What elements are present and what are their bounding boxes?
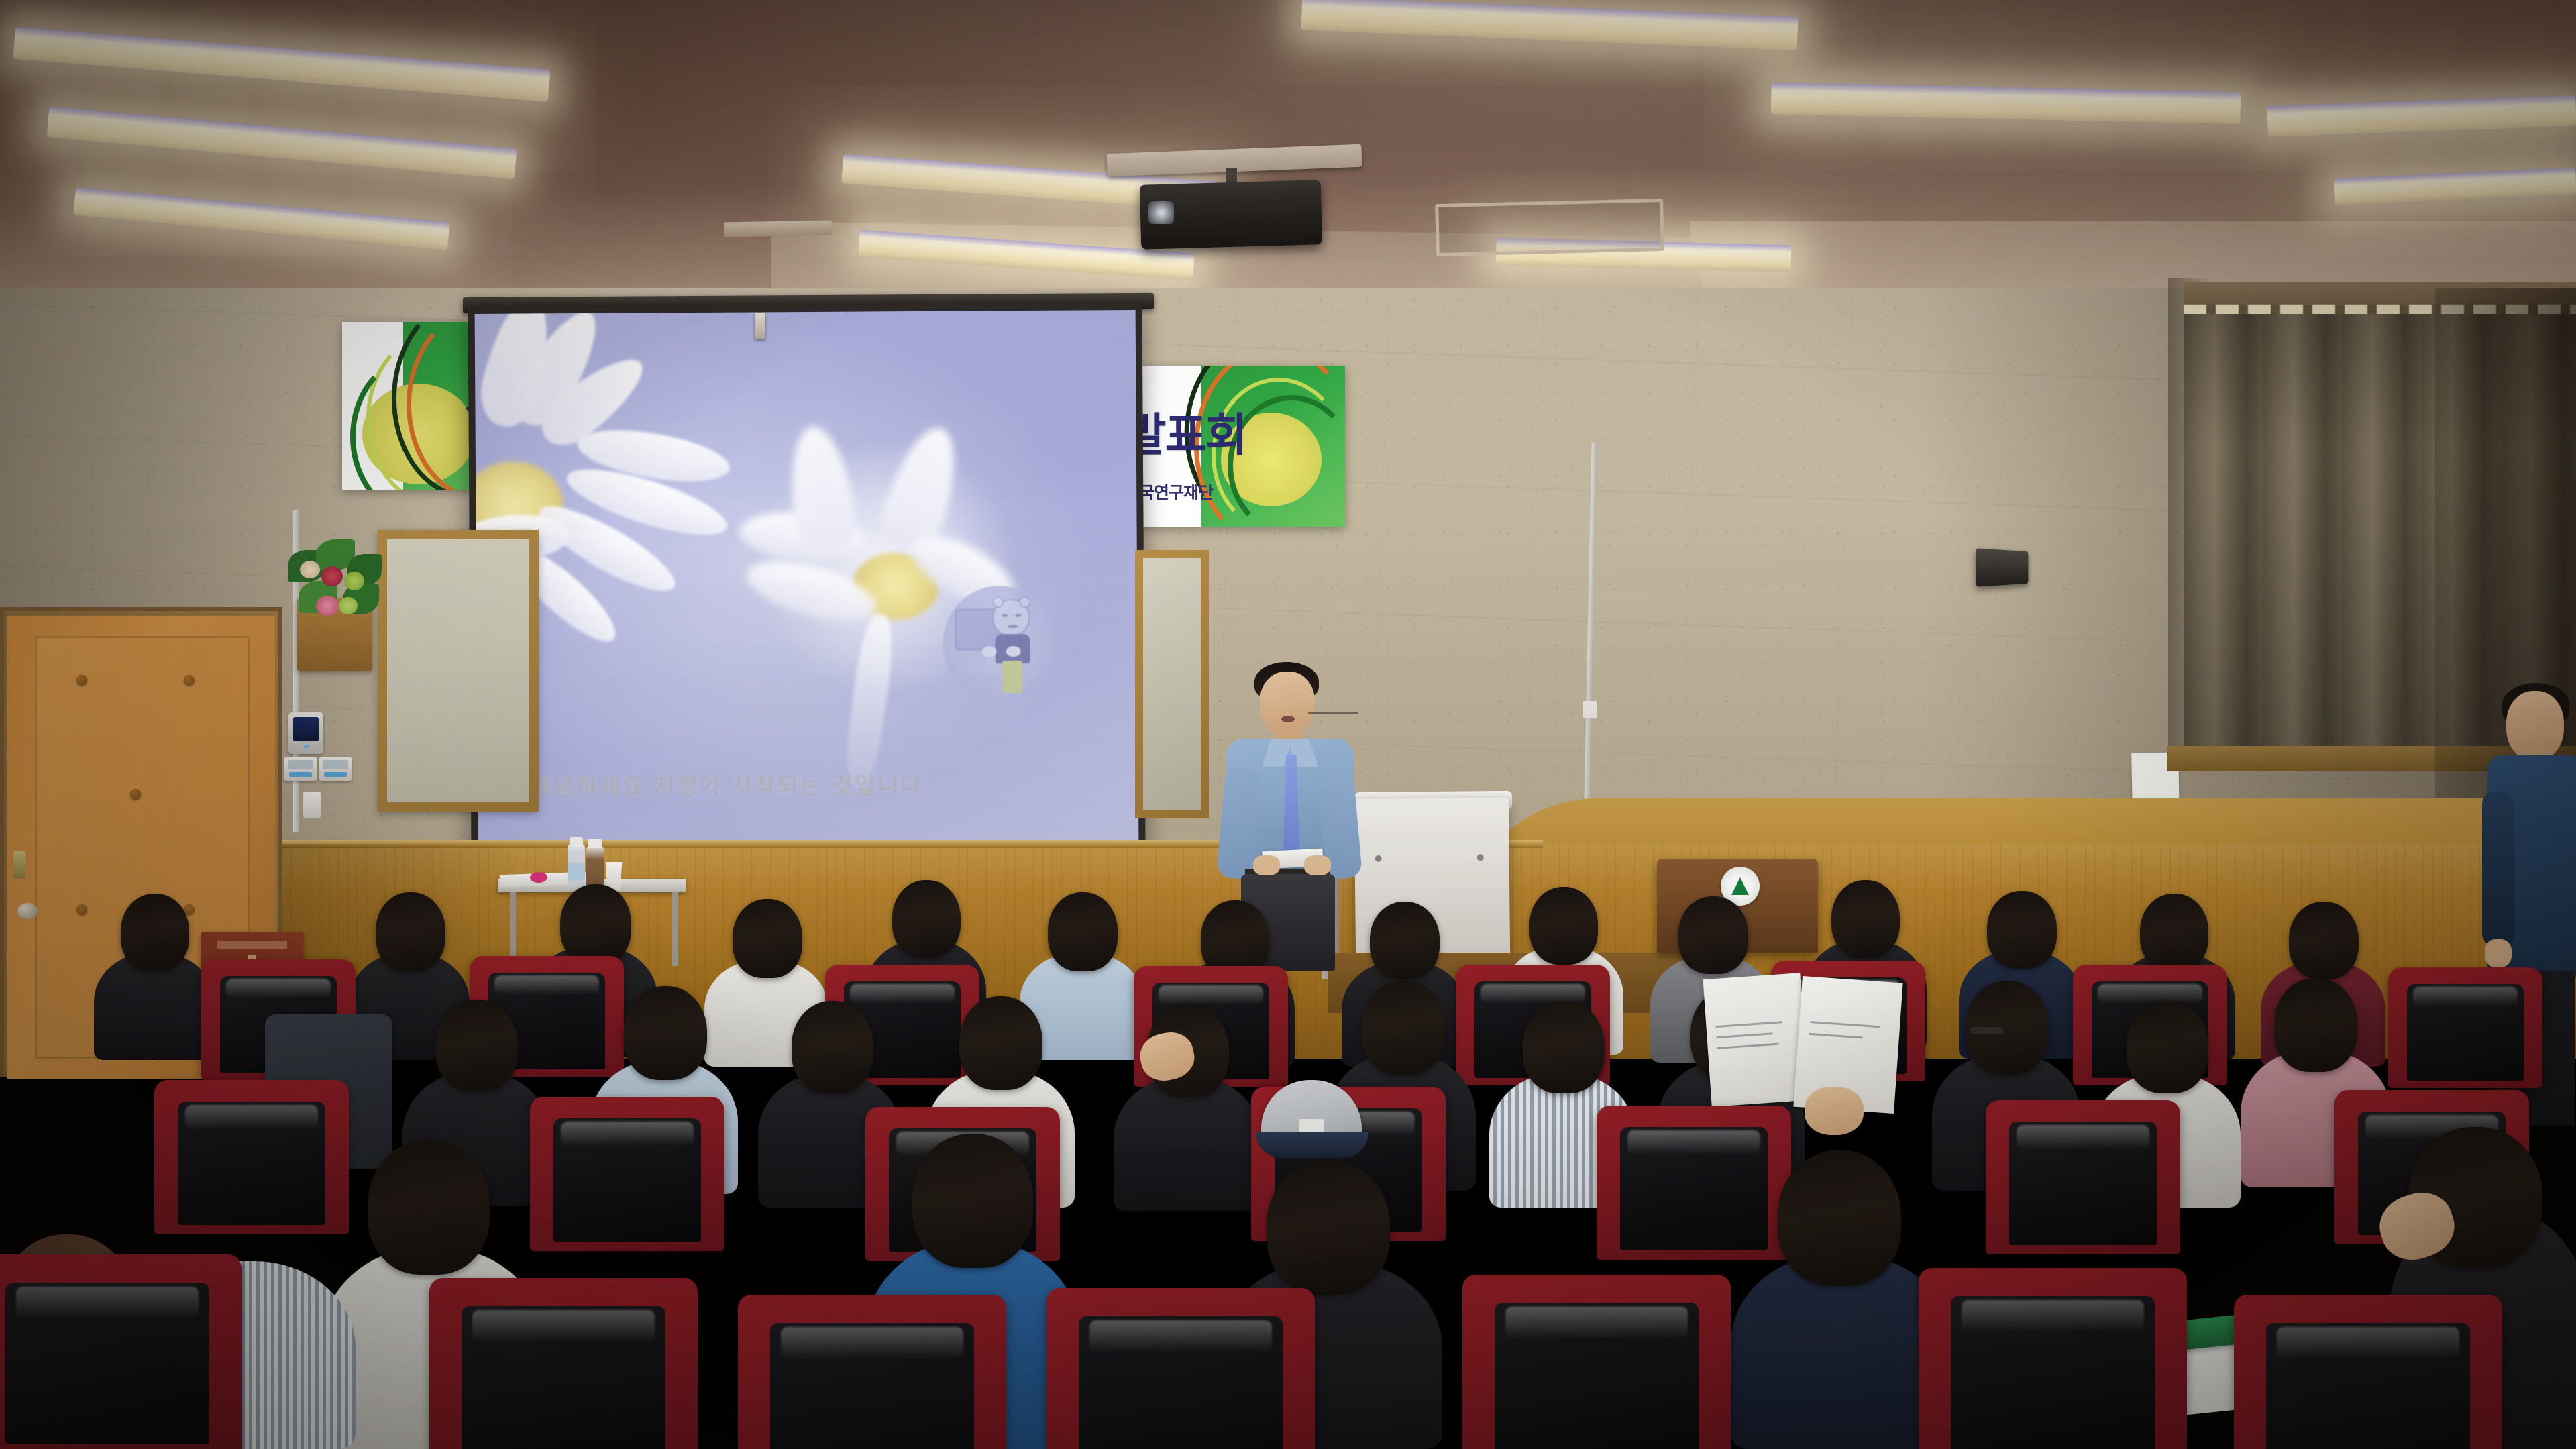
projection-screen-surface: 개녕하세요 지령가 시작되는 것입니다 — [475, 310, 1139, 844]
podium-screw — [1375, 855, 1382, 862]
table-leg — [672, 892, 678, 966]
audience-head — [436, 1000, 518, 1092]
air-vent — [1435, 199, 1664, 256]
presenter-mouth — [1281, 716, 1295, 722]
bottle-cap — [570, 837, 583, 847]
screen-center-hook — [755, 313, 765, 339]
audience-head — [2140, 894, 2208, 971]
cartoon-legs — [1002, 661, 1022, 693]
wall-speaker-icon — [1976, 548, 2028, 586]
auditorium-seat — [2234, 1295, 2502, 1449]
table-leg — [510, 892, 516, 966]
auditorium-seat — [2388, 967, 2542, 1088]
access-reader-led — [303, 745, 309, 748]
glasses-icon — [1308, 712, 1358, 721]
wall-outlet — [303, 792, 321, 818]
audience-head — [2127, 1001, 2208, 1093]
audience-head — [792, 1001, 873, 1093]
door-lock[interactable] — [13, 851, 25, 879]
bottle-cap — [588, 839, 602, 848]
glasses-icon — [1968, 1025, 2006, 1036]
door-tuft — [130, 789, 141, 800]
switch-label-strip — [324, 772, 347, 777]
slide-cartoon-badge — [943, 586, 1056, 702]
light-switch-left[interactable] — [284, 757, 317, 781]
whiteboard-surface — [387, 539, 529, 802]
cap-brim — [1256, 1132, 1368, 1158]
door-tuft — [76, 675, 87, 686]
wall-flower-arrangement — [285, 537, 386, 664]
audience-head — [624, 986, 707, 1080]
auditorium-seat — [1986, 1100, 2180, 1254]
slide-caption-text: 개녕하세요 지령가 시작되는 것입니다 — [531, 766, 1086, 802]
cartoon-desk-leg — [958, 657, 962, 690]
cartoon-eye-left — [1002, 614, 1008, 617]
water-bottle — [586, 847, 604, 887]
auditorium-seat — [0, 1254, 241, 1449]
auditorium-seat — [1462, 1275, 1731, 1449]
audience-head — [733, 899, 802, 978]
audience-head — [1048, 892, 1118, 971]
audience-head — [912, 1134, 1033, 1268]
auditorium-seat — [530, 1097, 724, 1251]
door-tuft — [76, 904, 87, 915]
audience-head — [2274, 978, 2357, 1072]
audience-head — [1523, 1001, 1605, 1093]
conduit-clip — [1583, 701, 1597, 718]
access-card-reader[interactable] — [288, 712, 323, 754]
podium-screw — [1477, 854, 1484, 861]
projection-screen: 개녕하세요 지령가 시작되는 것입니다 — [468, 303, 1146, 851]
auditorium-seat — [429, 1278, 698, 1449]
booklet-text-line — [1717, 1043, 1779, 1049]
switch-label-strip — [289, 772, 312, 777]
standing-attendee-head — [2506, 691, 2564, 761]
audience-head — [1529, 887, 1598, 965]
presenter-hand-left — [1253, 855, 1280, 875]
standing-attendee-hand — [2485, 939, 2512, 967]
booklet-text-line — [1809, 1033, 1863, 1039]
audience-head — [121, 894, 189, 971]
cap-tag — [1299, 1119, 1324, 1132]
audience-head — [1370, 902, 1440, 979]
door-tuft — [184, 675, 195, 686]
presenter-hand-right — [1304, 855, 1331, 875]
light-switch-right[interactable] — [319, 757, 352, 781]
auditorium-seat — [1046, 1288, 1315, 1449]
standing-attendee-arm — [2482, 792, 2514, 946]
audience-head — [376, 892, 445, 971]
audience-head — [959, 996, 1042, 1090]
flower-bloom-pink — [316, 596, 339, 616]
bottle-label — [568, 863, 585, 880]
door-handle[interactable] — [17, 903, 38, 919]
flower-bloom-lime — [339, 597, 358, 614]
switch-rocker[interactable] — [323, 760, 348, 769]
framed-whiteboard — [378, 530, 539, 812]
audience-head — [560, 884, 631, 965]
switch-rocker[interactable] — [288, 760, 313, 769]
projector-lens — [1148, 201, 1174, 224]
cartoon-mouth — [1007, 625, 1018, 628]
audience-head — [1678, 896, 1748, 974]
presenter-head — [1260, 672, 1315, 735]
flower-bloom-red — [321, 566, 343, 586]
booklet-text-line — [1715, 1021, 1782, 1028]
audience-head — [1267, 1161, 1390, 1295]
cartoon-ear-right — [1019, 596, 1030, 608]
audience-head — [1831, 880, 1900, 958]
flower-bloom-lime — [344, 572, 364, 590]
flower-bloom-cream — [300, 561, 320, 578]
access-reader-screen — [293, 717, 319, 741]
audience-head — [2289, 902, 2359, 979]
cartoon-tiger-head — [992, 599, 1030, 637]
cartoon-hand-right — [1006, 646, 1021, 657]
ceiling-trim-strip — [724, 221, 832, 237]
hand-holding-booklet — [1805, 1087, 1864, 1135]
audience-head — [1778, 1150, 1901, 1286]
auditorium-seat — [1919, 1268, 2187, 1449]
board-right-surface — [1143, 558, 1201, 810]
banner-right: 발표회 한국연구재단 — [1114, 366, 1345, 527]
audience-head — [1362, 981, 1445, 1075]
cartoon-eye-right — [1015, 614, 1021, 617]
booklet-text-line — [1717, 1032, 1773, 1038]
cartoon-hand-left — [982, 646, 997, 657]
cartoon-ear-left — [992, 596, 1004, 608]
plaque-text-line — [217, 941, 287, 949]
program-booklet — [1703, 973, 1809, 1107]
audience-head — [368, 1140, 490, 1275]
water-bottle — [568, 844, 585, 887]
audience-head — [1987, 891, 2057, 969]
booklet-text-line — [1810, 1021, 1880, 1028]
auditorium-seat — [738, 1295, 1006, 1449]
audience-head — [892, 880, 961, 958]
auditorium-seat — [154, 1080, 349, 1234]
auditorium-photo: 개 발표회 한국연구재단 — [0, 0, 2576, 1449]
framed-board-right — [1135, 550, 1209, 818]
auditorium-seat — [1597, 1106, 1791, 1260]
